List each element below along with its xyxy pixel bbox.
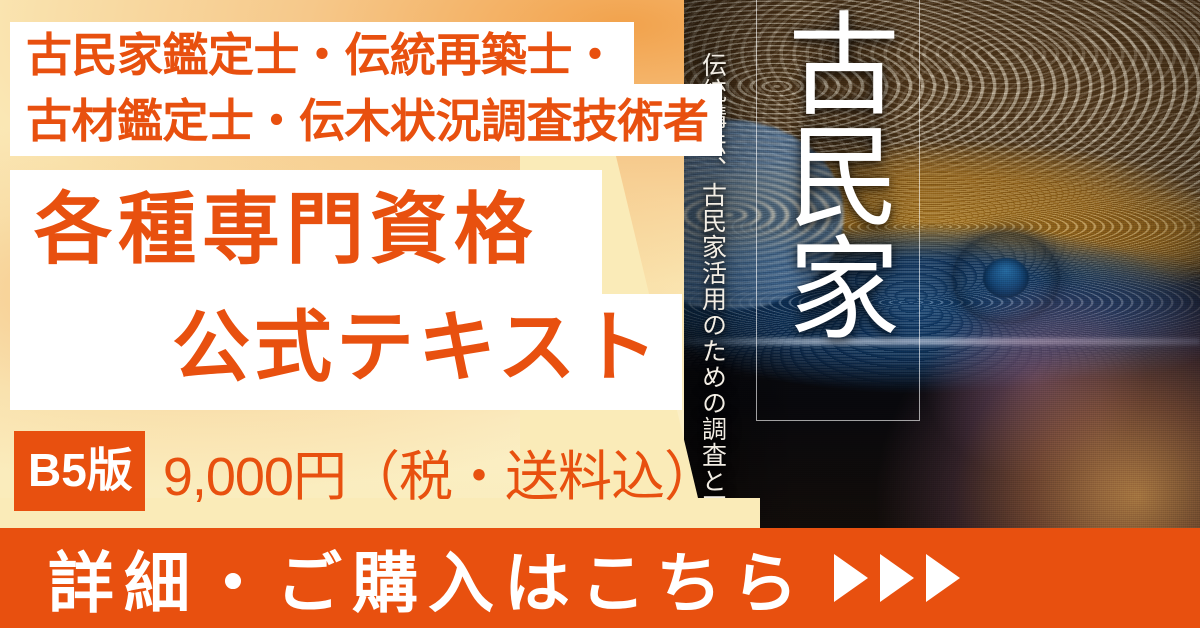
qualifications-line-1: 古民家鑑定士・伝統再築士・ [26,22,726,88]
triangle-right-icon [880,554,914,602]
cta-bar[interactable]: 詳細・ご購入はこちら [0,528,1200,628]
cover-title: 古民家 [780,6,896,342]
triangle-right-icon [926,554,960,602]
headline-text: 各種専門資格 公式テキスト [10,170,682,406]
qualifications-text: 古民家鑑定士・伝統再築士・ 古材鑑定士・伝木状況調査技術者 [26,22,726,154]
promo-banner: 古民家 伝統構法、古民家活用のための調査と再生の 古民家鑑定士・伝統再築士・ 古… [0,0,1200,628]
cta-label[interactable]: 詳細・ご購入はこちら [48,530,808,626]
price-amount: 9,000円（税・送料込） [163,432,717,511]
headline-panel: 各種専門資格 公式テキスト [10,170,682,410]
qualifications-line-2: 古材鑑定士・伝木状況調査技術者 [26,88,726,154]
price-row: B5版 9,000円（税・送料込） [14,430,717,512]
book-cover-photo: 古民家 伝統構法、古民家活用のための調査と再生の [684,0,1200,540]
cta-arrows[interactable] [834,554,960,602]
headline-line-2: 公式テキスト [10,288,682,406]
triangle-right-icon [834,554,868,602]
qualifications-panel: 古民家鑑定士・伝統再築士・ 古材鑑定士・伝木状況調査技術者 [10,22,722,156]
format-badge: B5版 [14,431,145,511]
headline-line-1: 各種専門資格 [10,170,682,288]
